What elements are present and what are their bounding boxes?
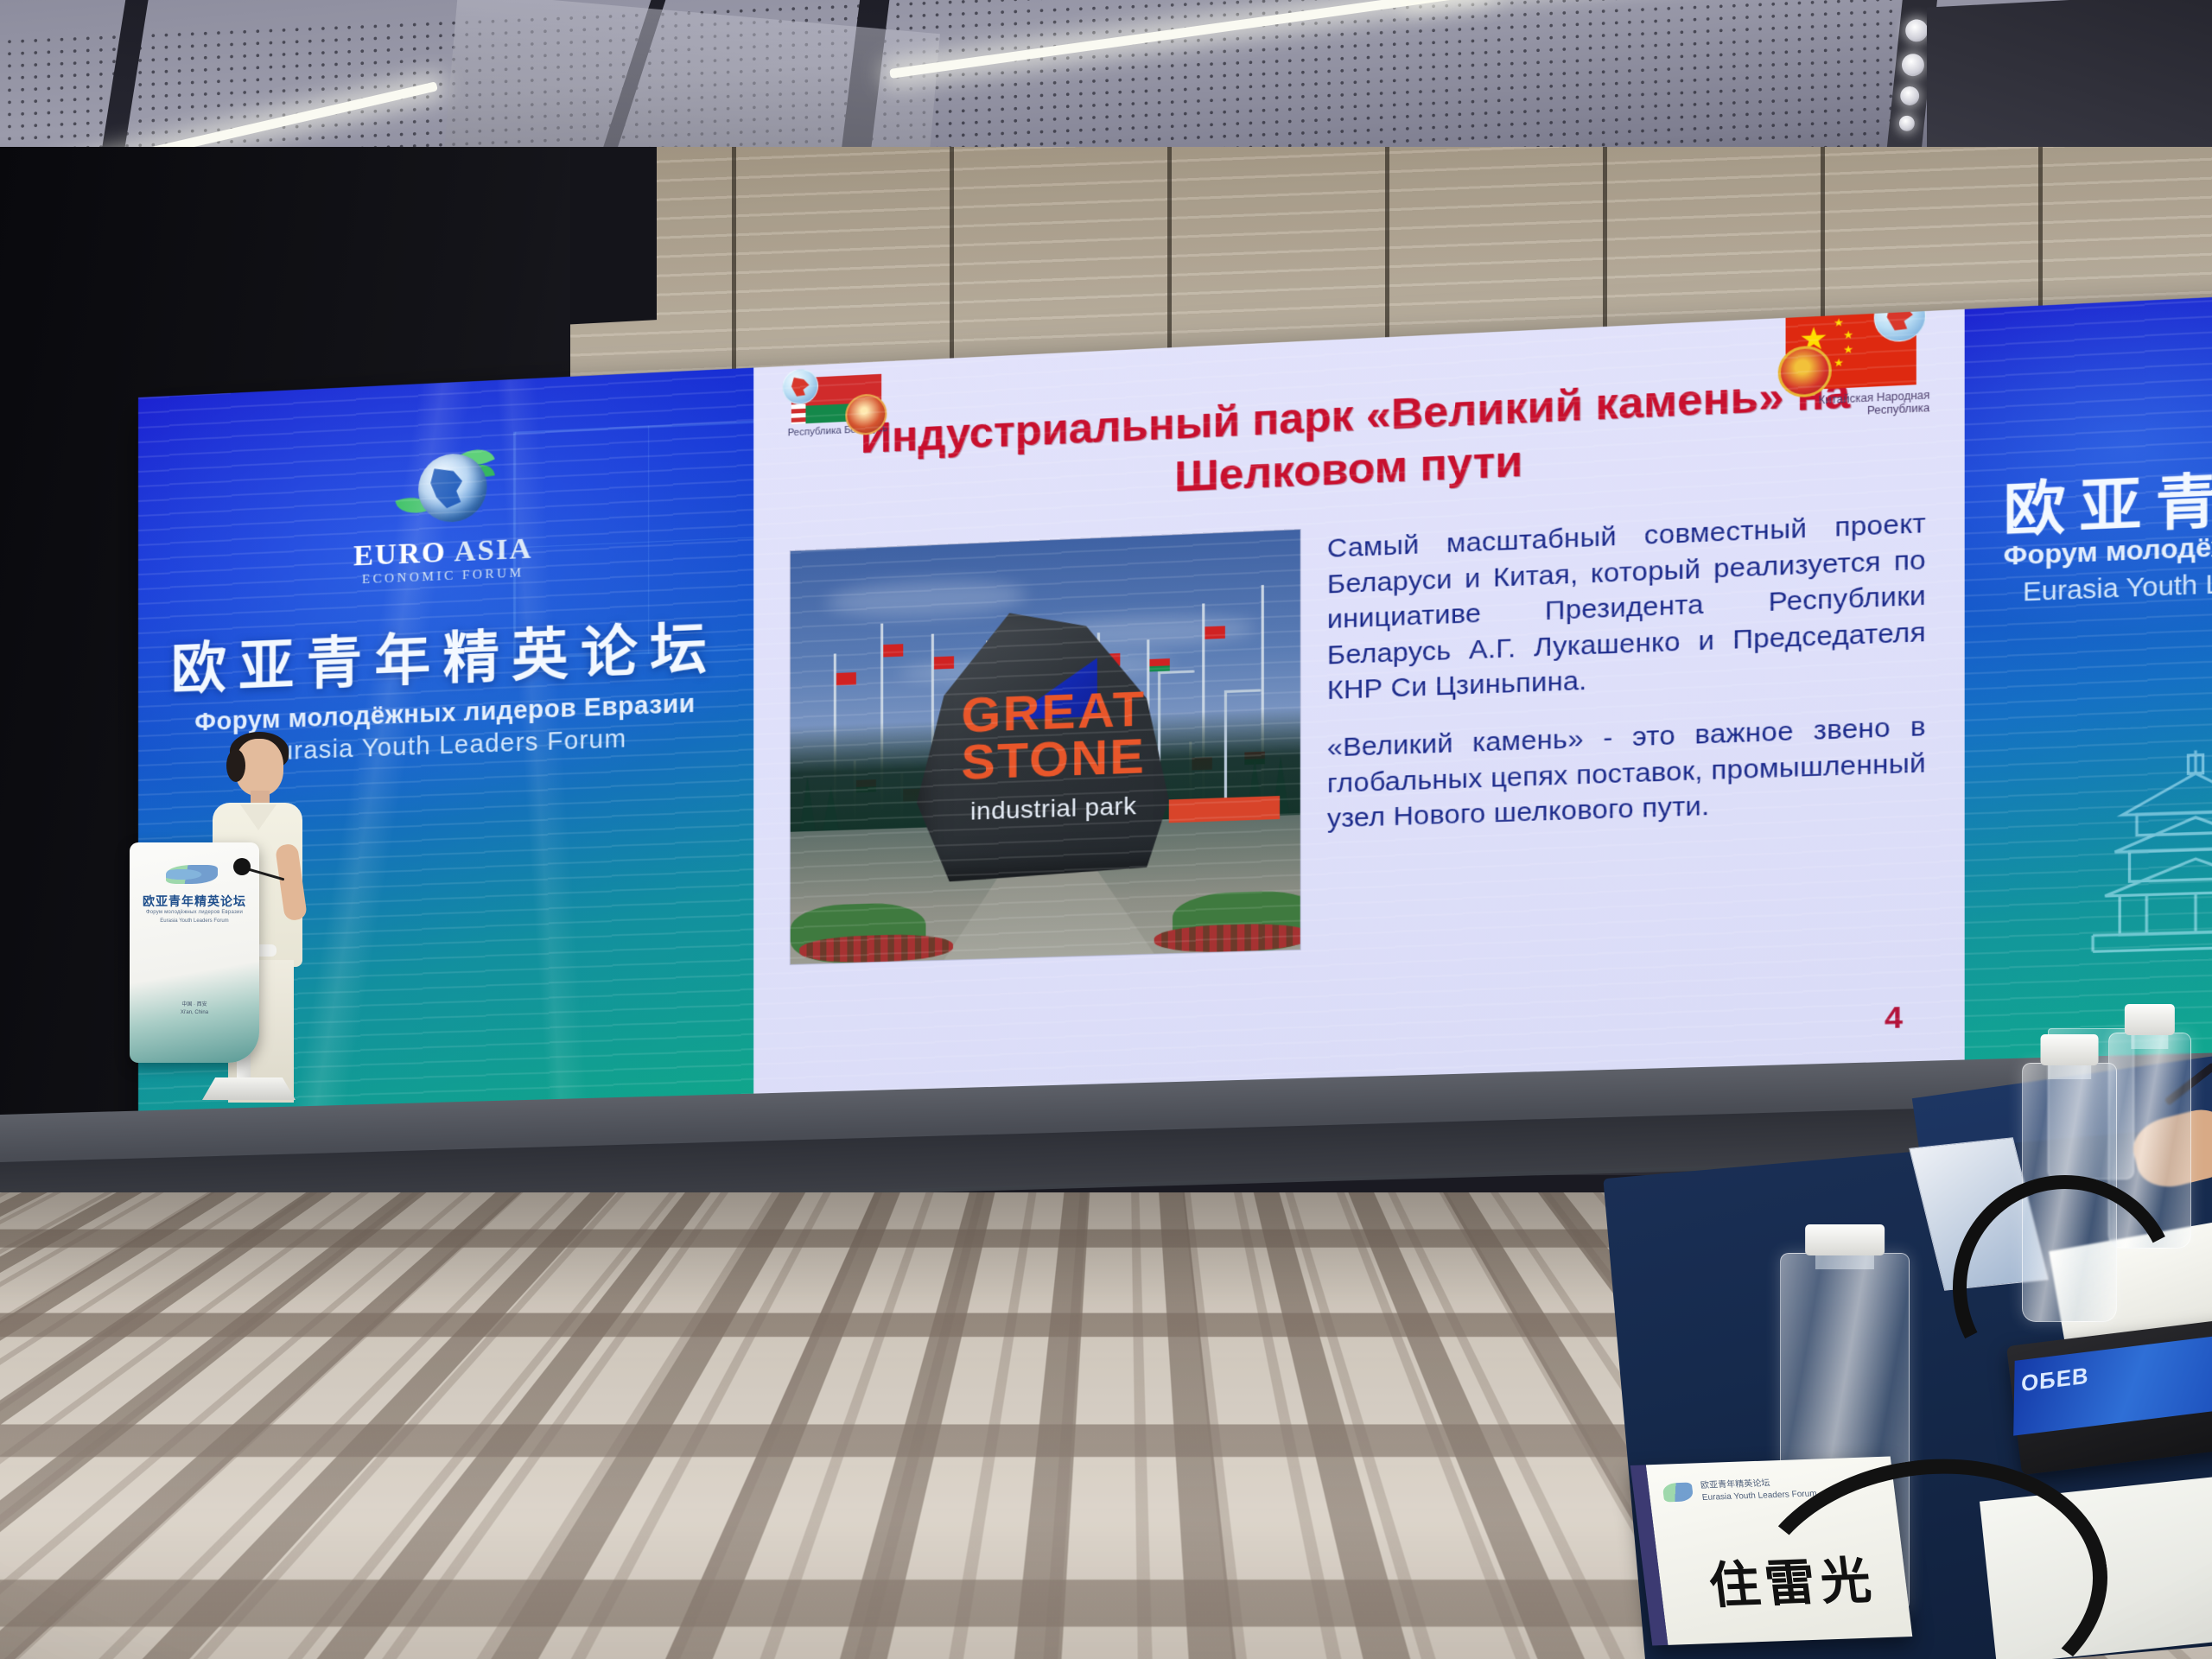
speaker-podium: 欧亚青年精英论坛 Форум молодёжных лидеров Еврази… bbox=[130, 842, 278, 1102]
pagoda-line-art-icon bbox=[2074, 734, 2212, 973]
spotlight-lamp bbox=[1898, 115, 1916, 132]
nameplate-subtitle: 欧亚青年精英论坛 Eurasia Youth Leaders Forum bbox=[1700, 1477, 1817, 1504]
slide-title: Индустриальный парк «Великий камень» на … bbox=[847, 367, 1864, 518]
logo-asia-text: ASIA bbox=[454, 532, 533, 568]
great-stone-entrance-photo: GREAT STONE industrial park bbox=[790, 529, 1301, 965]
slide-text-column: Самый масштабный совместный проект Белар… bbox=[1327, 502, 1926, 950]
china-flag: ★ ★ ★ ★ ★ bbox=[1786, 306, 1916, 391]
great-stone-sign-text: GREAT STONE bbox=[935, 683, 1173, 787]
slide-paragraph-1: Самый масштабный совместный проект Белар… bbox=[1327, 506, 1926, 709]
forum-title-chinese-right: 欧亚青年精英论坛 bbox=[2004, 441, 2212, 547]
star-icon: ★ bbox=[1843, 329, 1853, 340]
decorative-grid bbox=[513, 419, 780, 659]
logo-subtitle: ECONOMIC FORUM bbox=[138, 556, 753, 597]
euroasia-globe-icon bbox=[1662, 1482, 1694, 1502]
podium-title-chinese: 欧亚青年精英论坛 bbox=[142, 893, 247, 910]
star-icon: ★ bbox=[1834, 357, 1844, 368]
spotlight-lamp bbox=[1904, 18, 1929, 43]
slide-content: GREAT STONE industrial park Самый масшта… bbox=[790, 502, 1926, 965]
podium-location-en: Xi'an, China bbox=[137, 1009, 252, 1017]
sign-line-2: STONE bbox=[935, 731, 1173, 787]
podium-title-russian: Форум молодёжных лидеров Евразии bbox=[137, 910, 252, 915]
euroasia-wordmark: EURO ASIA bbox=[138, 524, 753, 581]
presentation-slide: Республика Беларусь ★ ★ ★ ★ ★ Китайская … bbox=[753, 290, 1965, 1141]
star-icon: ★ bbox=[1843, 344, 1853, 355]
china-flag-block: ★ ★ ★ ★ ★ Китайская Народная Республика bbox=[1786, 305, 1930, 421]
podium-location: 中国 · 西安 Xi'an, China bbox=[137, 1001, 252, 1017]
forum-branding-block: EURO ASIA ECONOMIC FORUM 欧亚青年精英论坛 Форум … bbox=[138, 435, 753, 772]
podium-microphone bbox=[238, 851, 289, 886]
spotlight-lamp bbox=[1899, 86, 1920, 106]
belarus-flag bbox=[788, 374, 881, 424]
photo-red-building bbox=[1169, 796, 1280, 823]
podium-location-cn: 中国 · 西安 bbox=[137, 1001, 252, 1009]
conference-hall-scene: EURO ASIA ECONOMIC FORUM 欧亚青年精英论坛 Форум … bbox=[0, 0, 2212, 1659]
star-icon: ★ bbox=[1834, 317, 1844, 328]
euroasia-globe-icon bbox=[166, 865, 218, 884]
forum-title-russian: Форум молодёжных лидеров Евразии bbox=[138, 688, 753, 740]
slide-paragraph-2: «Великий камень» - это важное звено в гл… bbox=[1327, 709, 1926, 837]
logo-euro-text: EURO bbox=[353, 537, 447, 573]
globe-leaf-icon bbox=[396, 447, 491, 535]
slide-page-number: 4 bbox=[1885, 1001, 1903, 1037]
podium-title-english: Eurasia Youth Leaders Forum bbox=[137, 918, 252, 924]
belarus-flag-block: Республика Беларусь bbox=[788, 373, 896, 439]
led-video-wall: EURO ASIA ECONOMIC FORUM 欧亚青年精英论坛 Форум … bbox=[138, 290, 2212, 1158]
led-panel-right-branding: 欧亚青年精英论坛 Форум молодёжных лидеров Еврази… bbox=[1965, 290, 2212, 1115]
forum-title-chinese: 欧亚青年精英论坛 bbox=[138, 601, 753, 706]
china-national-emblem-icon bbox=[1778, 345, 1832, 398]
spotlight-lamp bbox=[1901, 53, 1926, 78]
podium-base bbox=[202, 1077, 296, 1100]
